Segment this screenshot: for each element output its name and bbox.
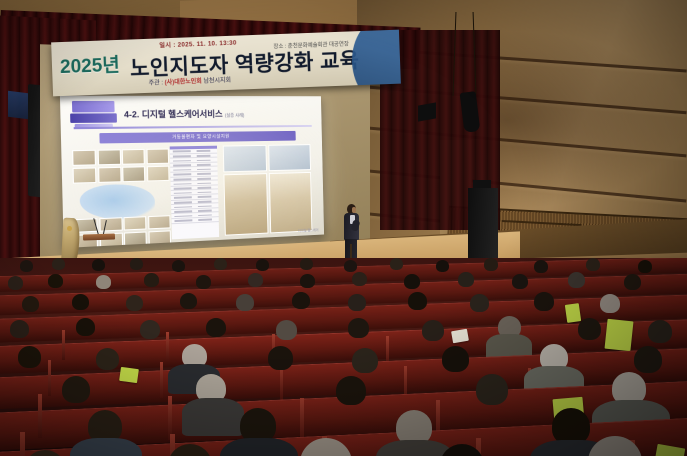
audience-head bbox=[140, 320, 160, 339]
audience-head bbox=[512, 274, 528, 289]
audience-head bbox=[248, 273, 263, 287]
audience-head bbox=[72, 294, 89, 310]
seat-divider bbox=[62, 330, 65, 360]
audience-head bbox=[442, 346, 469, 372]
seat-divider bbox=[300, 398, 304, 442]
audience-head bbox=[390, 258, 403, 270]
projection-screen: 4-2. 디지털 헬스케어서비스 (실증 사례) 거동불편자 및 요양시설지원 bbox=[60, 96, 324, 248]
audience-head bbox=[484, 258, 498, 271]
audience-head bbox=[18, 346, 41, 368]
auditorium-photo: 4-2. 디지털 헬스케어서비스 (실증 사례) 거동불편자 및 요양시설지원 bbox=[0, 0, 687, 456]
audience-head bbox=[52, 258, 65, 270]
audience-head bbox=[476, 374, 508, 405]
banner-host-branch: 남천시지회 bbox=[203, 78, 231, 85]
slide-photo bbox=[268, 144, 311, 171]
slide-photo bbox=[223, 173, 268, 236]
slide-thumbnail bbox=[97, 149, 120, 165]
seat-divider bbox=[160, 362, 163, 398]
audience-head bbox=[292, 292, 310, 309]
slide-thumbnail bbox=[124, 231, 147, 245]
audience-head bbox=[638, 260, 652, 273]
audience-handout bbox=[605, 319, 634, 352]
audience-head bbox=[236, 294, 254, 311]
slide-thumbnail bbox=[146, 165, 169, 181]
audience-head bbox=[352, 272, 367, 286]
audience-head bbox=[458, 272, 474, 287]
audience-head bbox=[256, 259, 269, 271]
audience-head bbox=[436, 260, 449, 272]
audience-head bbox=[648, 320, 672, 343]
audience-head bbox=[268, 346, 293, 370]
audience-head bbox=[180, 293, 197, 309]
slide-thumbnail bbox=[122, 149, 145, 165]
audience-head bbox=[76, 318, 95, 336]
slide-thumbnail bbox=[123, 216, 146, 230]
ceiling-monitor-box bbox=[418, 102, 436, 121]
audience-area bbox=[0, 258, 687, 456]
flag-finial-icon bbox=[67, 226, 72, 231]
banner-host-prefix: 주관 : bbox=[149, 80, 165, 87]
slide-title: 4-2. 디지털 헬스케어서비스 (실증 사례) bbox=[124, 108, 245, 121]
slide-thumbnail bbox=[72, 150, 96, 166]
audience-head bbox=[300, 258, 313, 270]
audience-head bbox=[92, 259, 105, 271]
slide-title-subtext: (실증 사례) bbox=[225, 113, 245, 118]
audience-head bbox=[130, 258, 143, 270]
presentation-logo bbox=[70, 101, 117, 128]
audience-head bbox=[22, 296, 39, 312]
slide-photo bbox=[269, 172, 312, 233]
banner-date: 일시 : 2025. 11. 10. 13:30 bbox=[159, 38, 237, 50]
audience-head bbox=[276, 320, 297, 340]
seat-divider bbox=[20, 432, 25, 456]
slide-thumbnail bbox=[146, 149, 169, 165]
slide-title-text: 4-2. 디지털 헬스케어서비스 bbox=[124, 109, 223, 120]
audience-head bbox=[404, 274, 420, 289]
banner-host-org: (사)대한노인회 bbox=[165, 79, 202, 86]
audience-shoulders bbox=[70, 438, 142, 456]
audience-head bbox=[586, 258, 600, 271]
slide-thumbnail-grid-top bbox=[72, 149, 169, 184]
audience-head bbox=[336, 376, 366, 405]
right-speaker-stack bbox=[468, 188, 498, 258]
audience-head bbox=[568, 272, 585, 288]
audience-head bbox=[20, 260, 33, 272]
audience-head bbox=[470, 294, 489, 312]
audience-head bbox=[96, 275, 111, 289]
audience-head bbox=[96, 348, 119, 370]
audience-shoulders bbox=[182, 398, 244, 436]
audience-head bbox=[408, 292, 427, 310]
audience-head bbox=[422, 320, 444, 341]
audience-head bbox=[10, 320, 29, 338]
audience-head bbox=[172, 260, 185, 272]
audience-handout bbox=[565, 303, 581, 323]
wall-monitor-screen bbox=[8, 91, 28, 119]
banner-host: 주관 : (사)대한노인회 남천시지회 bbox=[148, 75, 231, 87]
audience-head bbox=[126, 295, 143, 311]
seat-divider bbox=[166, 332, 169, 362]
audience-head bbox=[578, 318, 601, 340]
seat-divider bbox=[48, 360, 51, 396]
slide-thumbnail bbox=[148, 230, 171, 244]
audience-head bbox=[624, 274, 641, 290]
audience-handout bbox=[119, 367, 139, 383]
slide-thumbnail bbox=[122, 166, 145, 182]
audience-head bbox=[8, 276, 23, 290]
slide-footer-label: 디지털 헬스케어 bbox=[298, 227, 319, 233]
audience-head bbox=[300, 274, 315, 288]
audience-head bbox=[144, 273, 159, 287]
slide-section-band: 거동불편자 및 요양시설지원 bbox=[99, 131, 295, 144]
audience-head bbox=[534, 292, 554, 311]
audience-head bbox=[600, 294, 620, 313]
audience-head bbox=[48, 274, 63, 288]
seat-divider bbox=[38, 394, 42, 438]
audience-head bbox=[214, 258, 227, 270]
audience-head bbox=[206, 318, 226, 337]
banner-year: 2025년 bbox=[59, 50, 120, 79]
slide-thumbnail bbox=[73, 167, 97, 183]
slide-thumbnail bbox=[98, 166, 121, 182]
audience-head bbox=[62, 376, 90, 403]
slide-photo bbox=[223, 145, 267, 172]
audience-head bbox=[344, 260, 357, 272]
audience-head bbox=[348, 294, 366, 311]
audience-head bbox=[634, 346, 662, 373]
slide-thumbnail bbox=[148, 215, 171, 229]
audience-head bbox=[348, 318, 369, 338]
audience-head bbox=[352, 348, 378, 373]
audience-head bbox=[196, 275, 211, 289]
slide-thumbnail bbox=[99, 217, 122, 231]
slide-band-label: 거동불편자 및 요양시설지원 bbox=[172, 134, 230, 141]
audience-head bbox=[534, 260, 548, 273]
slide-data-table bbox=[170, 146, 219, 240]
